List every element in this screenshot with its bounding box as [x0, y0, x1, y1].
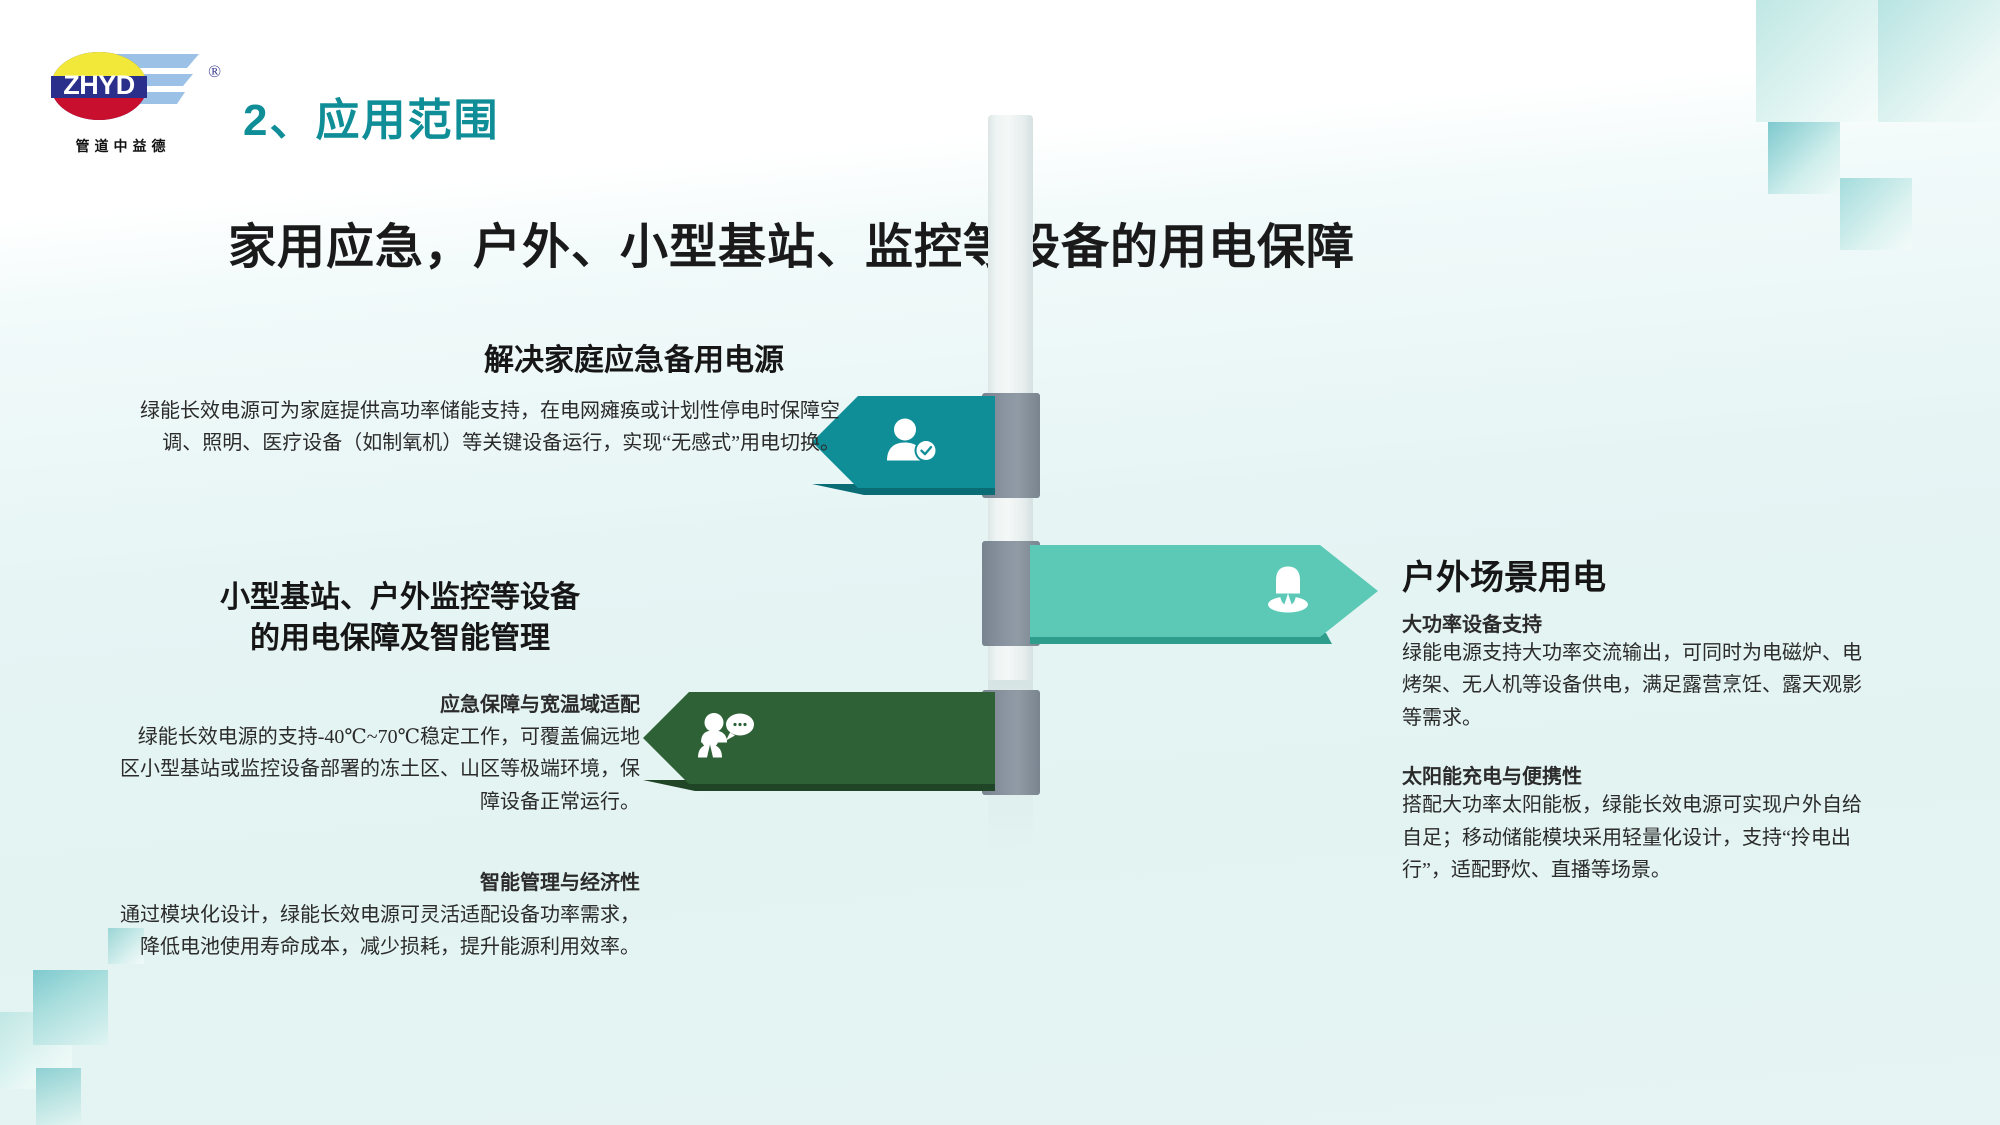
block-outdoor-sub1-body: 绿能电源支持大功率交流输出，可同时为电磁炉、电烤架、无人机等设备供电，满足露营烹… [1402, 637, 1872, 734]
block-outdoor-group-1: 大功率设备支持 绿能电源支持大功率交流输出，可同时为电磁炉、电烤架、无人机等设备… [1402, 608, 1872, 734]
block-home-emergency: 解决家庭应急备用电源 绿能长效电源可为家庭提供高功率储能支持，在电网瘫痪或计划性… [120, 335, 840, 460]
block-base-station-heading: 小型基站、户外监控等设备 的用电保障及智能管理 [140, 578, 660, 659]
page-title: 家用应急，户外、小型基站、监控等设备的用电保障 [228, 207, 1355, 277]
block-outdoor-heading: 户外场景用电 [1402, 550, 1606, 599]
svg-text:ZHYD: ZHYD [63, 70, 135, 100]
user-check-icon [884, 417, 940, 468]
decor-square-top-right-1 [1878, 0, 2000, 122]
block-wide-temp-heading: 应急保障与宽温域适配 [120, 688, 640, 717]
arrow-base-station-body [643, 692, 995, 784]
decor-square-top-right-3 [1768, 122, 1840, 194]
logo-mark: ZHYD [47, 48, 207, 138]
block-outdoor-sub2-body: 搭配大功率太阳能板，绿能长效电源可实现户外自给自足；移动储能模块采用轻量化设计，… [1402, 789, 1872, 886]
block-outdoor-sub1-heading: 大功率设备支持 [1402, 608, 1872, 637]
block-smart-management: 智能管理与经济性 通过模块化设计，绿能长效电源可灵活适配设备功率需求，降低电池使… [120, 866, 640, 964]
arrow-base-station[interactable] [643, 692, 995, 784]
decor-square-top-right-4 [1840, 178, 1912, 250]
block-wide-temp-body: 绿能长效电源的支持-40℃~70℃稳定工作，可覆盖偏远地区小型基站或监控设备部署… [120, 721, 640, 818]
block-home-emergency-body: 绿能长效电源可为家庭提供高功率储能支持，在电网瘫痪或计划性停电时保障空调、照明、… [120, 395, 840, 460]
decor-square-top-right-2 [1756, 0, 1878, 122]
company-logo: ZHYD ® 管道中益德 [47, 48, 207, 158]
registered-trademark-icon: ® [208, 62, 221, 82]
logo-subtitle: 管道中益德 [53, 136, 193, 156]
user-female-icon [1264, 564, 1312, 619]
users-chat-icon [697, 712, 757, 765]
block-outdoor-group-2: 太阳能充电与便携性 搭配大功率太阳能板，绿能长效电源可实现户外自给自足；移动储能… [1402, 760, 1872, 886]
decor-square-bottom-left-2 [33, 970, 108, 1045]
arrow-outdoor-body [1030, 545, 1378, 637]
slide-canvas: ZHYD ® 管道中益德 2、应用范围 家用应急，户外、小型基站、监控等设备的用… [0, 0, 2000, 1125]
block-wide-temp: 应急保障与宽温域适配 绿能长效电源的支持-40℃~70℃稳定工作，可覆盖偏远地区… [120, 688, 640, 818]
decor-square-bottom-left-5 [0, 1053, 36, 1089]
decor-square-bottom-left-4 [36, 1068, 81, 1125]
block-outdoor-sub2-heading: 太阳能充电与便携性 [1402, 760, 1872, 789]
block-smart-management-heading: 智能管理与经济性 [120, 866, 640, 895]
block-base-station-heading-line2: 的用电保障及智能管理 [140, 619, 660, 660]
block-outdoor: 大功率设备支持 绿能电源支持大功率交流输出，可同时为电磁炉、电烤架、无人机等设备… [1402, 608, 1872, 886]
block-base-station-heading-line1: 小型基站、户外监控等设备 [140, 578, 660, 619]
section-title: 2、应用范围 [243, 84, 499, 148]
block-smart-management-body: 通过模块化设计，绿能长效电源可灵活适配设备功率需求，降低电池使用寿命成本，减少损… [120, 899, 640, 964]
arrow-outdoor[interactable] [1030, 545, 1378, 637]
block-home-emergency-heading: 解决家庭应急备用电源 [120, 335, 840, 379]
